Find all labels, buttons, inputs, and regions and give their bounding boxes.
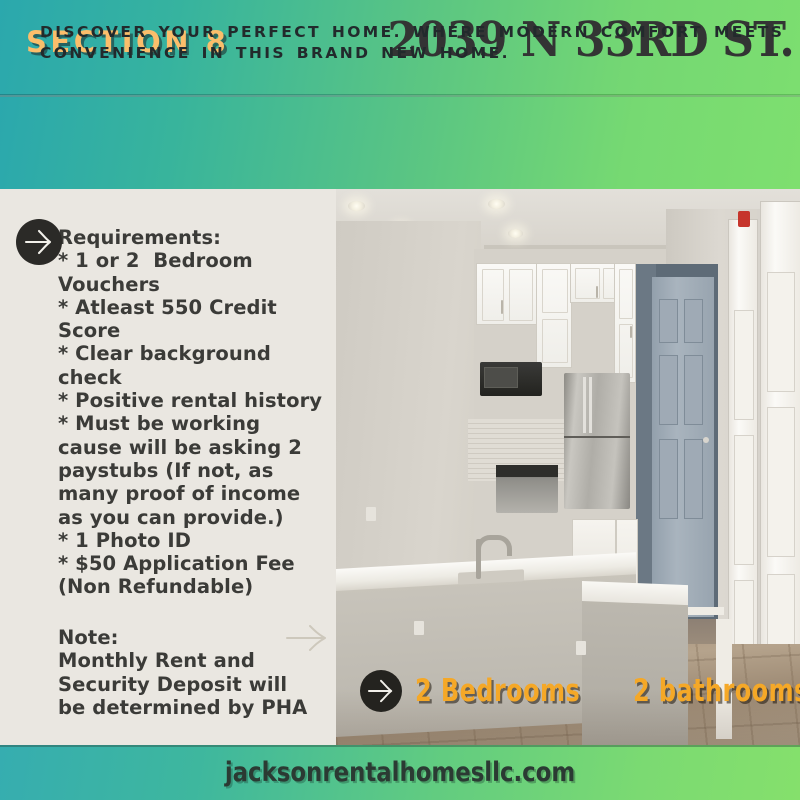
footer-divider (0, 745, 800, 747)
website-link[interactable]: jacksonrentalhomesllc.com (24, 757, 776, 788)
bathrooms-badge: 2 bathrooms (633, 673, 800, 709)
subtitle-text: DISCOVER YOUR PERFECT HOME. WHERE MODERN… (40, 22, 785, 64)
kitchen-interior-photo (336, 189, 800, 745)
subtitle-band (0, 97, 800, 189)
arrow-circle-icon (16, 219, 62, 265)
arrow-circle-icon (360, 670, 402, 712)
bedrooms-badge: 2 Bedrooms (415, 673, 580, 709)
flyer-canvas: SECTION 8 2039 N 33RD ST. DISCOVER YOUR … (0, 0, 800, 800)
requirements-text: Requirements: * 1 or 2 Bedroom Vouchers … (58, 226, 338, 599)
note-text: Note: Monthly Rent and Security Deposit … (58, 626, 338, 719)
features-badge-row: 2 Bedrooms 2 bathrooms (360, 668, 800, 714)
